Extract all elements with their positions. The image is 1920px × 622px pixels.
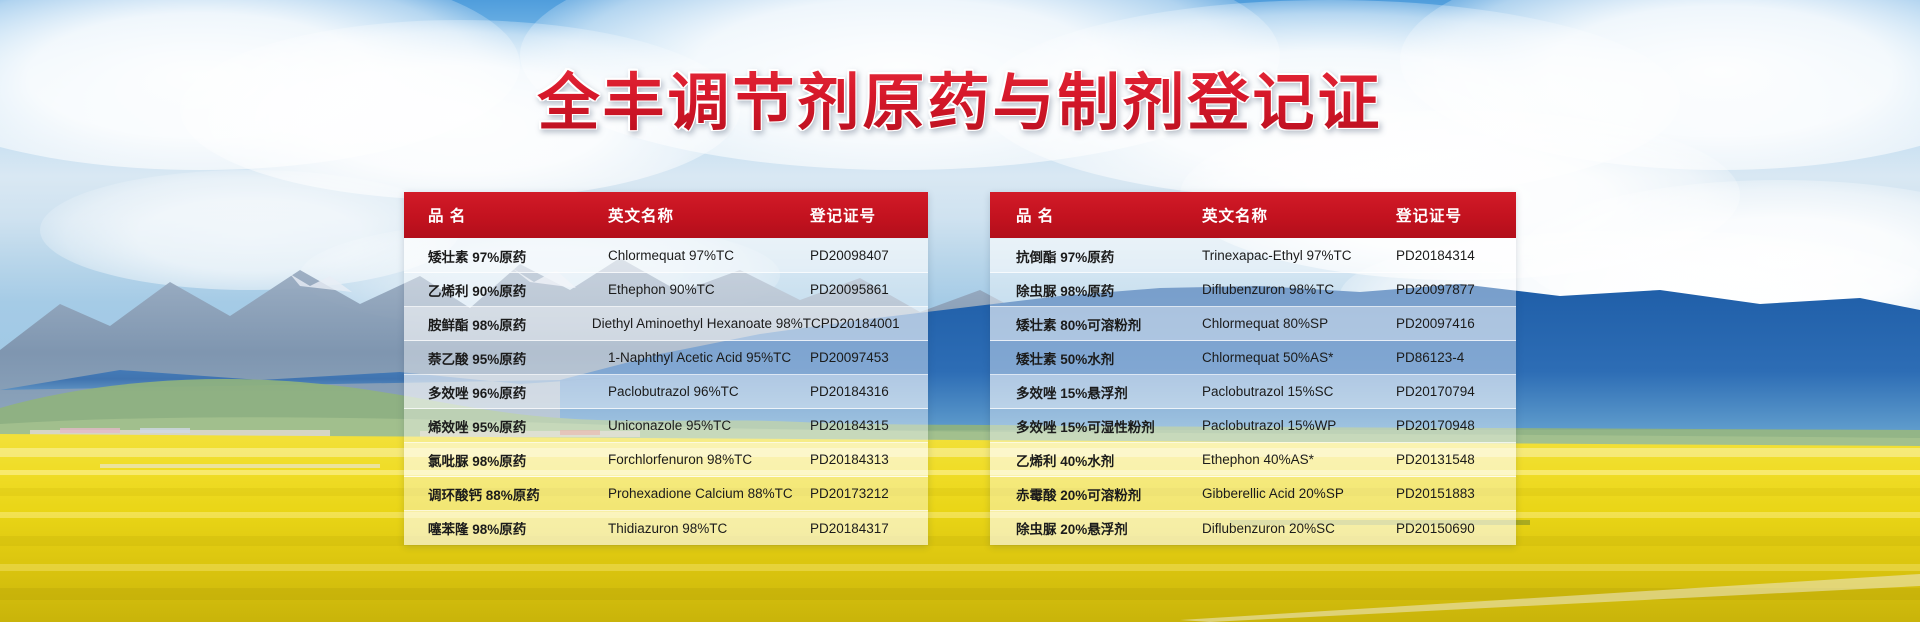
page-title: 全丰调节剂原药与制剂登记证 — [537, 52, 1382, 142]
table-row: 调环酸钙 88%原药 Prohexadione Calcium 88%TC PD… — [404, 477, 928, 511]
table-row: 除虫脲 98%原药 Diflubenzuron 98%TC PD20097877 — [990, 273, 1516, 307]
cell-english-name: Prohexadione Calcium 88%TC — [604, 486, 810, 501]
cell-product-name: 多效唑 15%悬浮剂 — [990, 382, 1198, 402]
table-row: 乙烯利 40%水剂 Ethephon 40%AS* PD20131548 — [990, 443, 1516, 477]
cell-registration-no: PD20184315 — [810, 418, 928, 433]
cell-english-name: Ethephon 90%TC — [604, 282, 810, 297]
cell-registration-no: PD20095861 — [810, 282, 928, 297]
cell-registration-no: PD20097416 — [1396, 316, 1516, 331]
cell-product-name: 矮壮素 50%水剂 — [990, 348, 1198, 368]
cell-registration-no: PD20184001 — [821, 316, 928, 331]
cell-product-name: 多效唑 96%原药 — [404, 382, 604, 402]
table-row: 矮壮素 50%水剂 Chlormequat 50%AS* PD86123-4 — [990, 341, 1516, 375]
cell-registration-no: PD20173212 — [810, 486, 928, 501]
table-row: 多效唑 15%可湿性粉剂 Paclobutrazol 15%WP PD20170… — [990, 409, 1516, 443]
column-header-product-name: 品 名 — [990, 204, 1198, 226]
cell-registration-no: PD20184316 — [810, 384, 928, 399]
table-header-row: 品 名 英文名称 登记证号 — [990, 192, 1516, 238]
cell-product-name: 调环酸钙 88%原药 — [404, 484, 604, 504]
table-row: 胺鲜酯 98%原药 Diethyl Aminoethyl Hexanoate 9… — [404, 307, 928, 341]
registration-table-right: 品 名 英文名称 登记证号 抗倒酯 97%原药 Trinexapac-Ethyl… — [990, 192, 1516, 545]
column-header-english-name: 英文名称 — [604, 204, 810, 226]
cell-product-name: 除虫脲 20%悬浮剂 — [990, 518, 1198, 538]
table-row: 除虫脲 20%悬浮剂 Diflubenzuron 20%SC PD2015069… — [990, 511, 1516, 545]
cell-english-name: Uniconazole 95%TC — [604, 418, 810, 433]
cell-english-name: Paclobutrazol 15%WP — [1198, 418, 1396, 433]
cell-product-name: 乙烯利 90%原药 — [404, 280, 604, 300]
cell-product-name: 氯吡脲 98%原药 — [404, 450, 604, 470]
cell-registration-no: PD20151883 — [1396, 486, 1516, 501]
cell-product-name: 噻苯隆 98%原药 — [404, 518, 604, 538]
table-row: 矮壮素 80%可溶粉剂 Chlormequat 80%SP PD20097416 — [990, 307, 1516, 341]
rapeseed-field — [0, 424, 1920, 622]
cell-registration-no: PD20097877 — [1396, 282, 1516, 297]
table-row: 矮壮素 97%原药 Chlormequat 97%TC PD20098407 — [404, 239, 928, 273]
cell-product-name: 矮壮素 80%可溶粉剂 — [990, 314, 1198, 334]
table-row: 多效唑 15%悬浮剂 Paclobutrazol 15%SC PD2017079… — [990, 375, 1516, 409]
cell-product-name: 赤霉酸 20%可溶粉剂 — [990, 484, 1198, 504]
cell-english-name: Ethephon 40%AS* — [1198, 452, 1396, 467]
column-header-english-name: 英文名称 — [1198, 204, 1396, 226]
table-row: 多效唑 96%原药 Paclobutrazol 96%TC PD20184316 — [404, 375, 928, 409]
cell-product-name: 多效唑 15%可湿性粉剂 — [990, 416, 1198, 436]
registration-table-left: 品 名 英文名称 登记证号 矮壮素 97%原药 Chlormequat 97%T… — [404, 192, 928, 545]
table-row: 烯效唑 95%原药 Uniconazole 95%TC PD20184315 — [404, 409, 928, 443]
cell-product-name: 胺鲜酯 98%原药 — [404, 314, 588, 334]
table-body: 矮壮素 97%原药 Chlormequat 97%TC PD20098407 乙… — [404, 238, 928, 545]
cell-registration-no: PD20098407 — [810, 248, 928, 263]
cell-product-name: 抗倒酯 97%原药 — [990, 246, 1198, 266]
table-row: 萘乙酸 95%原药 1-Naphthyl Acetic Acid 95%TC P… — [404, 341, 928, 375]
column-header-product-name: 品 名 — [404, 204, 604, 226]
cell-product-name: 烯效唑 95%原药 — [404, 416, 604, 436]
banner-title-wrap: 全丰调节剂原药与制剂登记证 — [0, 52, 1920, 142]
cell-english-name: Forchlorfenuron 98%TC — [604, 452, 810, 467]
cell-registration-no: PD20184314 — [1396, 248, 1516, 263]
table-body: 抗倒酯 97%原药 Trinexapac-Ethyl 97%TC PD20184… — [990, 238, 1516, 545]
cell-registration-no: PD20131548 — [1396, 452, 1516, 467]
cell-english-name: Chlormequat 80%SP — [1198, 316, 1396, 331]
cell-english-name: Paclobutrazol 15%SC — [1198, 384, 1396, 399]
cell-english-name: Diflubenzuron 98%TC — [1198, 282, 1396, 297]
cell-english-name: Paclobutrazol 96%TC — [604, 384, 810, 399]
banner-stage: 全丰调节剂原药与制剂登记证 品 名 英文名称 登记证号 矮壮素 97%原药 Ch… — [0, 0, 1920, 622]
column-header-registration-no: 登记证号 — [810, 204, 928, 226]
cell-registration-no: PD20150690 — [1396, 521, 1516, 536]
cell-product-name: 除虫脲 98%原药 — [990, 280, 1198, 300]
cell-english-name: Trinexapac-Ethyl 97%TC — [1198, 248, 1396, 263]
table-row: 乙烯利 90%原药 Ethephon 90%TC PD20095861 — [404, 273, 928, 307]
cell-registration-no: PD20170948 — [1396, 418, 1516, 433]
cell-english-name: 1-Naphthyl Acetic Acid 95%TC — [604, 350, 810, 365]
table-header-row: 品 名 英文名称 登记证号 — [404, 192, 928, 238]
table-row: 赤霉酸 20%可溶粉剂 Gibberellic Acid 20%SP PD201… — [990, 477, 1516, 511]
cell-product-name: 乙烯利 40%水剂 — [990, 450, 1198, 470]
cell-english-name: Diflubenzuron 20%SC — [1198, 521, 1396, 536]
cell-registration-no: PD86123-4 — [1396, 350, 1516, 365]
cell-registration-no: PD20097453 — [810, 350, 928, 365]
table-row: 噻苯隆 98%原药 Thidiazuron 98%TC PD20184317 — [404, 511, 928, 545]
cell-product-name: 萘乙酸 95%原药 — [404, 348, 604, 368]
cell-english-name: Gibberellic Acid 20%SP — [1198, 486, 1396, 501]
cell-registration-no: PD20184317 — [810, 521, 928, 536]
cell-english-name: Diethyl Aminoethyl Hexanoate 98%TC — [588, 316, 821, 331]
cell-registration-no: PD20170794 — [1396, 384, 1516, 399]
table-row: 氯吡脲 98%原药 Forchlorfenuron 98%TC PD201843… — [404, 443, 928, 477]
cell-product-name: 矮壮素 97%原药 — [404, 246, 604, 266]
cell-english-name: Thidiazuron 98%TC — [604, 521, 810, 536]
column-header-registration-no: 登记证号 — [1396, 204, 1516, 226]
cell-english-name: Chlormequat 50%AS* — [1198, 350, 1396, 365]
table-row: 抗倒酯 97%原药 Trinexapac-Ethyl 97%TC PD20184… — [990, 239, 1516, 273]
cell-registration-no: PD20184313 — [810, 452, 928, 467]
cell-english-name: Chlormequat 97%TC — [604, 248, 810, 263]
